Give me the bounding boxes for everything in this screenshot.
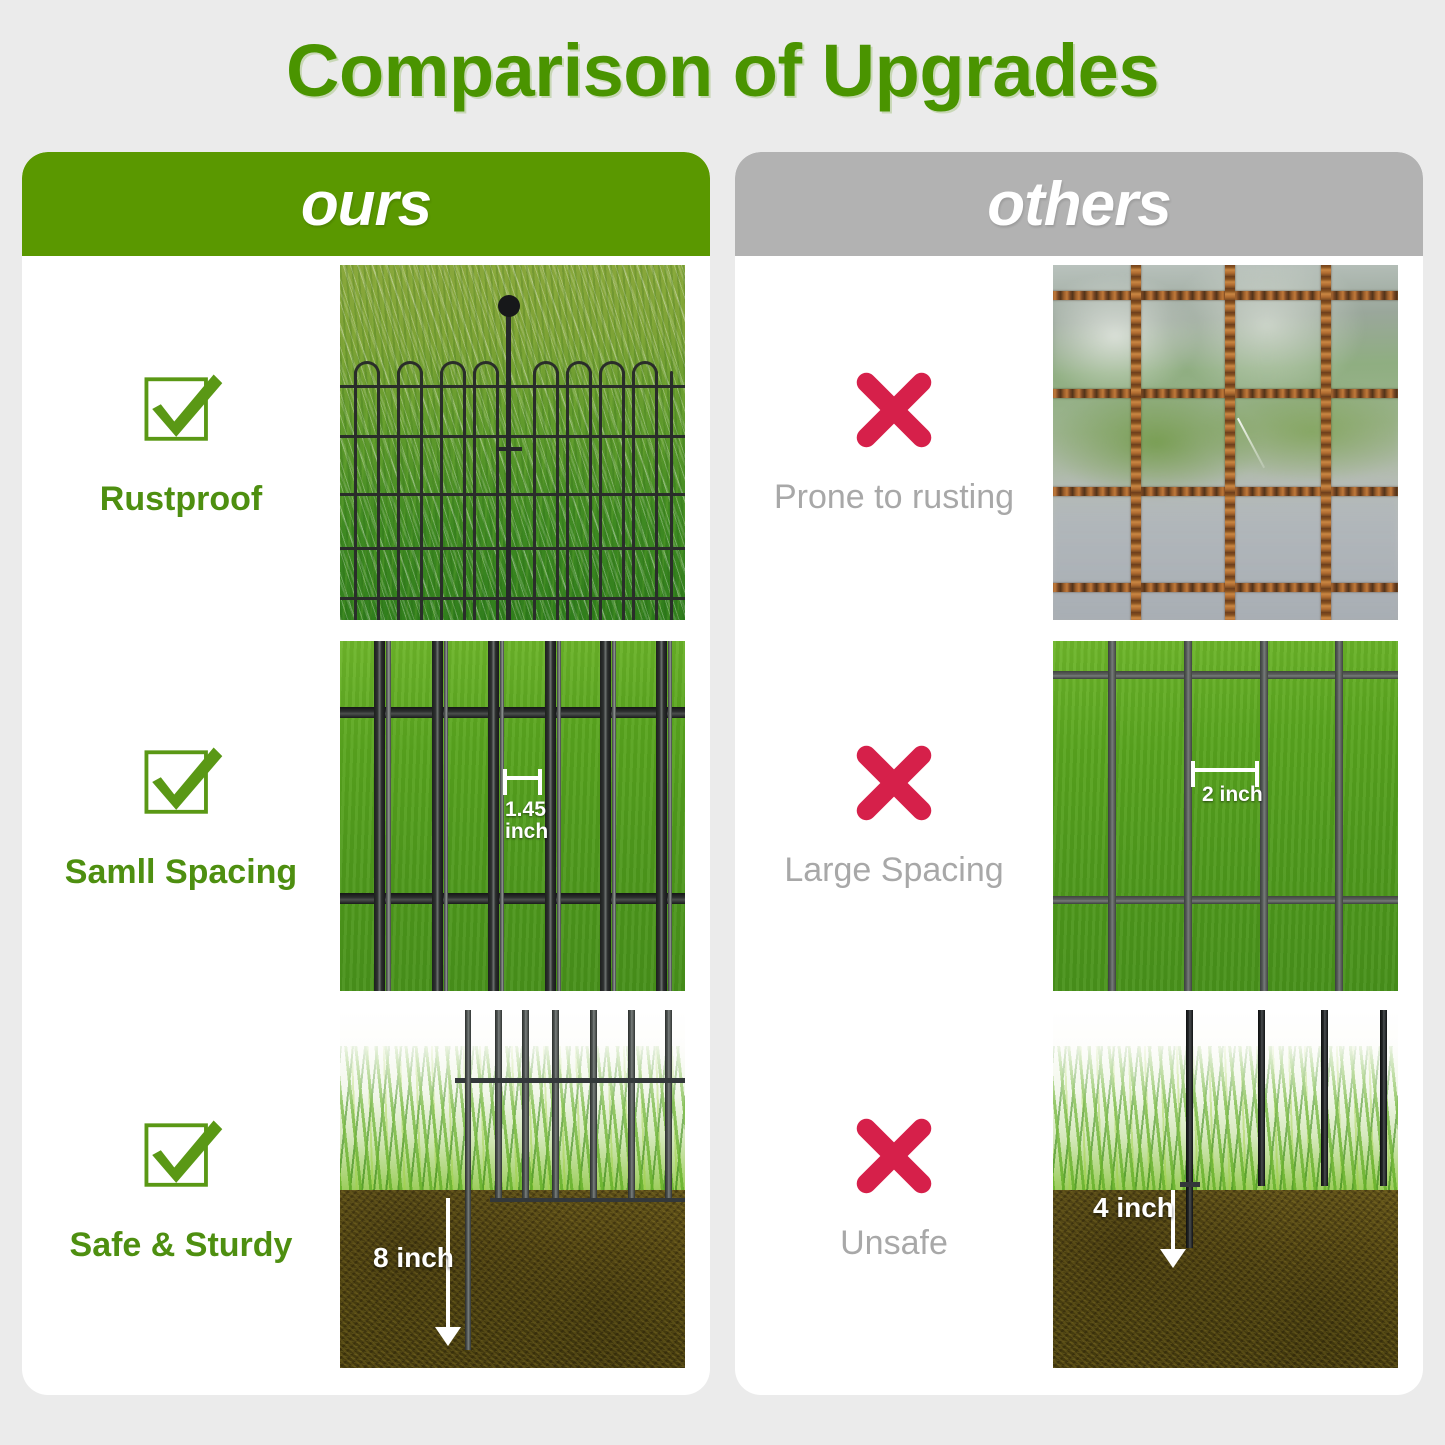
- check-icon: [133, 1108, 229, 1204]
- photo-rustproof-fence: [340, 265, 685, 620]
- cross-icon-svg: [848, 1110, 940, 1202]
- dimension-marker-1-45: [503, 769, 542, 795]
- ours-feature-1-info: Rustproof: [22, 362, 340, 523]
- cross-icon: [848, 737, 940, 829]
- others-column-header: others: [735, 152, 1423, 256]
- feature-row: Samll Spacing: [22, 629, 710, 1002]
- others-feature-list: Prone to rusting: [735, 256, 1423, 1375]
- ours-feature-2-label: Samll Spacing: [65, 853, 297, 892]
- others-feature-1-label: Prone to rusting: [774, 478, 1014, 517]
- others-feature-2-info: Large Spacing: [735, 737, 1053, 894]
- depth-label-8inch: 8 inch: [373, 1242, 454, 1274]
- photo-safe-sturdy-depth: 8 inch: [340, 1010, 685, 1368]
- feature-row: Safe & Sturdy: [22, 1002, 710, 1375]
- feature-row: Prone to rusting: [735, 256, 1423, 629]
- ours-feature-3-label: Safe & Sturdy: [70, 1226, 293, 1265]
- photo-small-spacing: 1.45 inch: [340, 641, 685, 991]
- dimension-label-1-45: 1.45 inch: [505, 799, 548, 844]
- depth-label-4inch: 4 inch: [1093, 1192, 1174, 1224]
- check-icon-svg: [133, 362, 229, 458]
- photo-unsafe-depth: 4 inch: [1053, 1010, 1398, 1368]
- post-rod: [506, 311, 511, 620]
- photo-large-spacing: 2 inch: [1053, 641, 1398, 991]
- soil-layer: [340, 1190, 685, 1368]
- post-cap-plate: [496, 447, 522, 451]
- grass-blades: [1053, 1046, 1398, 1198]
- ours-column-header: ours: [22, 152, 710, 256]
- check-icon: [133, 735, 229, 831]
- check-icon-svg: [133, 1108, 229, 1204]
- feature-row: Rustproof: [22, 256, 710, 629]
- dimension-label-2inch: 2 inch: [1202, 784, 1263, 807]
- others-feature-1-info: Prone to rusting: [735, 364, 1053, 521]
- feature-row: Unsafe 4 inch: [735, 1002, 1423, 1375]
- photo-rusty-mesh: [1053, 265, 1398, 620]
- comparison-infographic: Comparison of Upgrades ours Rustproof: [0, 0, 1445, 1445]
- feature-row: Large Spacing 2 inch: [735, 629, 1423, 1002]
- others-feature-2-label: Large Spacing: [784, 851, 1003, 890]
- check-icon-svg: [133, 735, 229, 831]
- ours-feature-3-info: Safe & Sturdy: [22, 1108, 340, 1269]
- others-header-label: others: [987, 169, 1170, 240]
- ours-header-label: ours: [301, 169, 431, 240]
- ours-column: ours Rustproof: [22, 152, 710, 1395]
- ours-feature-2-info: Samll Spacing: [22, 735, 340, 896]
- grass-noise: [1053, 641, 1398, 991]
- others-feature-3-label: Unsafe: [840, 1224, 948, 1263]
- cross-icon-svg: [848, 364, 940, 456]
- fence-illustration: [340, 357, 685, 620]
- cross-icon: [848, 1110, 940, 1202]
- check-icon: [133, 362, 229, 458]
- others-feature-3-info: Unsafe: [735, 1110, 1053, 1267]
- cross-icon-svg: [848, 737, 940, 829]
- others-column: others Prone to rusting: [735, 152, 1423, 1395]
- ours-feature-list: Rustproof: [22, 256, 710, 1375]
- page-title: Comparison of Upgrades: [0, 28, 1445, 113]
- post-ball-cap: [498, 295, 520, 317]
- ours-feature-1-label: Rustproof: [100, 480, 262, 519]
- cross-icon: [848, 364, 940, 456]
